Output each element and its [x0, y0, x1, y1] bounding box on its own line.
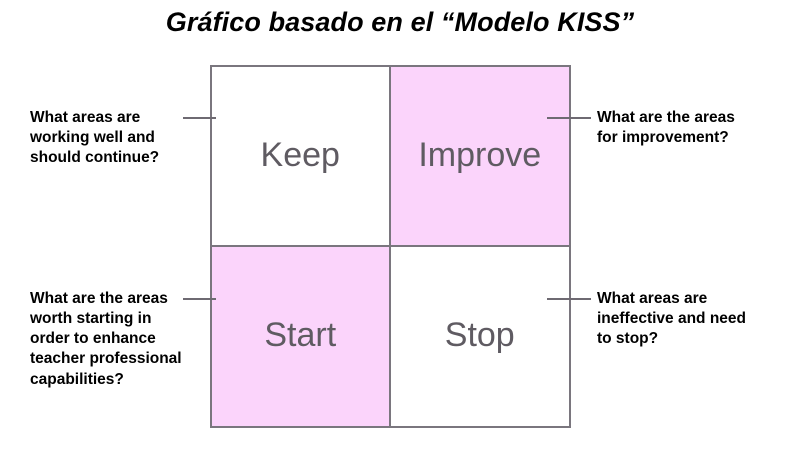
quadrant-stop[interactable]: Stop	[391, 247, 570, 427]
quadrant-improve[interactable]: Improve	[391, 67, 570, 247]
quadrant-keep-label: Keep	[261, 138, 340, 174]
annotation-start-line-5: capabilities?	[30, 370, 195, 390]
annotation-stop-line-2: ineffective and need	[597, 309, 787, 329]
annotation-start-line-3: order to enhance	[30, 329, 195, 349]
kiss-quadrant-matrix: Keep Improve Start Stop	[210, 65, 571, 428]
annotation-start-line-4: teacher professional	[30, 349, 195, 369]
quadrant-stop-label: Stop	[445, 318, 515, 354]
quadrant-start[interactable]: Start	[212, 247, 391, 427]
quadrant-keep[interactable]: Keep	[212, 67, 391, 247]
annotation-keep-line-3: should continue?	[30, 148, 195, 168]
annotation-stop-line-1: What areas are	[597, 289, 787, 309]
annotation-improve-line-2: for improvement?	[597, 128, 787, 148]
quadrant-improve-label: Improve	[418, 138, 541, 174]
annotation-keep: What areas are working well and should c…	[30, 108, 195, 168]
annotation-improve: What are the areas for improvement?	[597, 108, 787, 148]
annotation-stop: What areas are ineffective and need to s…	[597, 289, 787, 349]
connector-line-improve	[547, 117, 591, 119]
annotation-stop-line-3: to stop?	[597, 329, 787, 349]
page-title: Gráfico basado en el “Modelo KISS”	[0, 7, 800, 38]
annotation-keep-line-1: What areas are	[30, 108, 195, 128]
connector-line-stop	[547, 298, 591, 300]
annotation-start: What are the areas worth starting in ord…	[30, 289, 195, 390]
annotation-keep-line-2: working well and	[30, 128, 195, 148]
annotation-improve-line-1: What are the areas	[597, 108, 787, 128]
quadrant-start-label: Start	[264, 318, 336, 354]
annotation-start-line-1: What are the areas	[30, 289, 195, 309]
annotation-start-line-2: worth starting in	[30, 309, 195, 329]
